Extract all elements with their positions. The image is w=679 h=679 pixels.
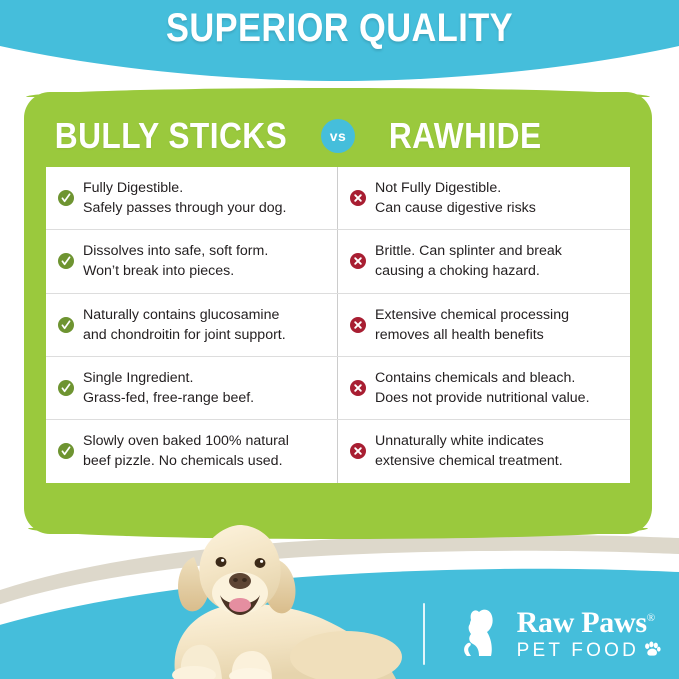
vs-badge: vs [321, 119, 355, 153]
table-cell-text: Contains chemicals and bleach.Does not p… [375, 368, 590, 408]
page-title: SUPERIOR QUALITY [48, 6, 632, 51]
table-row: Fully Digestible.Safely passes through y… [46, 167, 630, 230]
dog-and-cat-logo-icon [457, 606, 511, 663]
logo-divider [423, 603, 425, 665]
brand-tagline-text: PET FOOD [517, 641, 639, 660]
table-cell-text: Unnaturally white indicatesextensive che… [375, 431, 563, 471]
table-cell-rawhide: Brittle. Can splinter and breakcausing a… [338, 230, 630, 292]
table-row: Naturally contains glucosamineand chondr… [46, 294, 630, 357]
check-circle-icon [58, 380, 74, 396]
dog-photo [108, 519, 426, 679]
comparison-table: Fully Digestible.Safely passes through y… [45, 166, 631, 484]
table-row: Slowly oven baked 100% naturalbeef pizzl… [46, 420, 630, 482]
x-circle-icon [350, 380, 366, 396]
table-cell-rawhide: Contains chemicals and bleach.Does not p… [338, 357, 630, 419]
x-circle-icon [350, 190, 366, 206]
brand-text: Raw Paws® PET FOOD [517, 608, 661, 661]
check-circle-icon [58, 190, 74, 206]
table-cell-rawhide: Unnaturally white indicatesextensive che… [338, 420, 630, 482]
comparison-heading: BULLY STICKS vs RAWHIDE [24, 112, 652, 160]
top-banner: SUPERIOR QUALITY [0, 0, 679, 86]
infographic-poster: SUPERIOR QUALITY BULLY STICKS vs RAWHIDE… [0, 0, 679, 679]
table-cell-bully: Dissolves into safe, soft form.Won’t bre… [46, 230, 338, 292]
table-cell-text: Not Fully Digestible.Can cause digestive… [375, 178, 536, 218]
table-cell-text: Slowly oven baked 100% naturalbeef pizzl… [83, 431, 289, 471]
table-cell-text: Fully Digestible.Safely passes through y… [83, 178, 286, 218]
x-circle-icon [350, 253, 366, 269]
x-circle-icon [350, 443, 366, 459]
table-cell-rawhide: Extensive chemical processingremoves all… [338, 294, 630, 356]
brand-logo: Raw Paws® PET FOOD [423, 603, 661, 665]
table-cell-bully: Naturally contains glucosamineand chondr… [46, 294, 338, 356]
brand-name: Raw Paws® [517, 608, 661, 638]
table-cell-rawhide: Not Fully Digestible.Can cause digestive… [338, 167, 630, 229]
table-cell-text: Dissolves into safe, soft form.Won’t bre… [83, 241, 268, 281]
brand-tagline: PET FOOD [517, 641, 661, 661]
table-cell-bully: Single Ingredient.Grass-fed, free-range … [46, 357, 338, 419]
check-circle-icon [58, 443, 74, 459]
heading-left-label: BULLY STICKS [50, 115, 293, 157]
table-cell-bully: Fully Digestible.Safely passes through y… [46, 167, 338, 229]
table-cell-text: Brittle. Can splinter and breakcausing a… [375, 241, 562, 281]
registered-mark: ® [647, 612, 655, 624]
paw-print-icon [643, 641, 661, 661]
table-row: Dissolves into safe, soft form.Won’t bre… [46, 230, 630, 293]
check-circle-icon [58, 253, 74, 269]
comparison-panel: BULLY STICKS vs RAWHIDE Fully Digestible… [24, 92, 652, 534]
x-circle-icon [350, 317, 366, 333]
table-cell-text: Naturally contains glucosamineand chondr… [83, 305, 286, 345]
check-circle-icon [58, 317, 74, 333]
table-row: Single Ingredient.Grass-fed, free-range … [46, 357, 630, 420]
brand-name-text: Raw Paws [517, 606, 647, 639]
table-cell-bully: Slowly oven baked 100% naturalbeef pizzl… [46, 420, 338, 482]
heading-right-label: RAWHIDE [384, 115, 627, 157]
table-cell-text: Extensive chemical processingremoves all… [375, 305, 569, 345]
table-cell-text: Single Ingredient.Grass-fed, free-range … [83, 368, 254, 408]
